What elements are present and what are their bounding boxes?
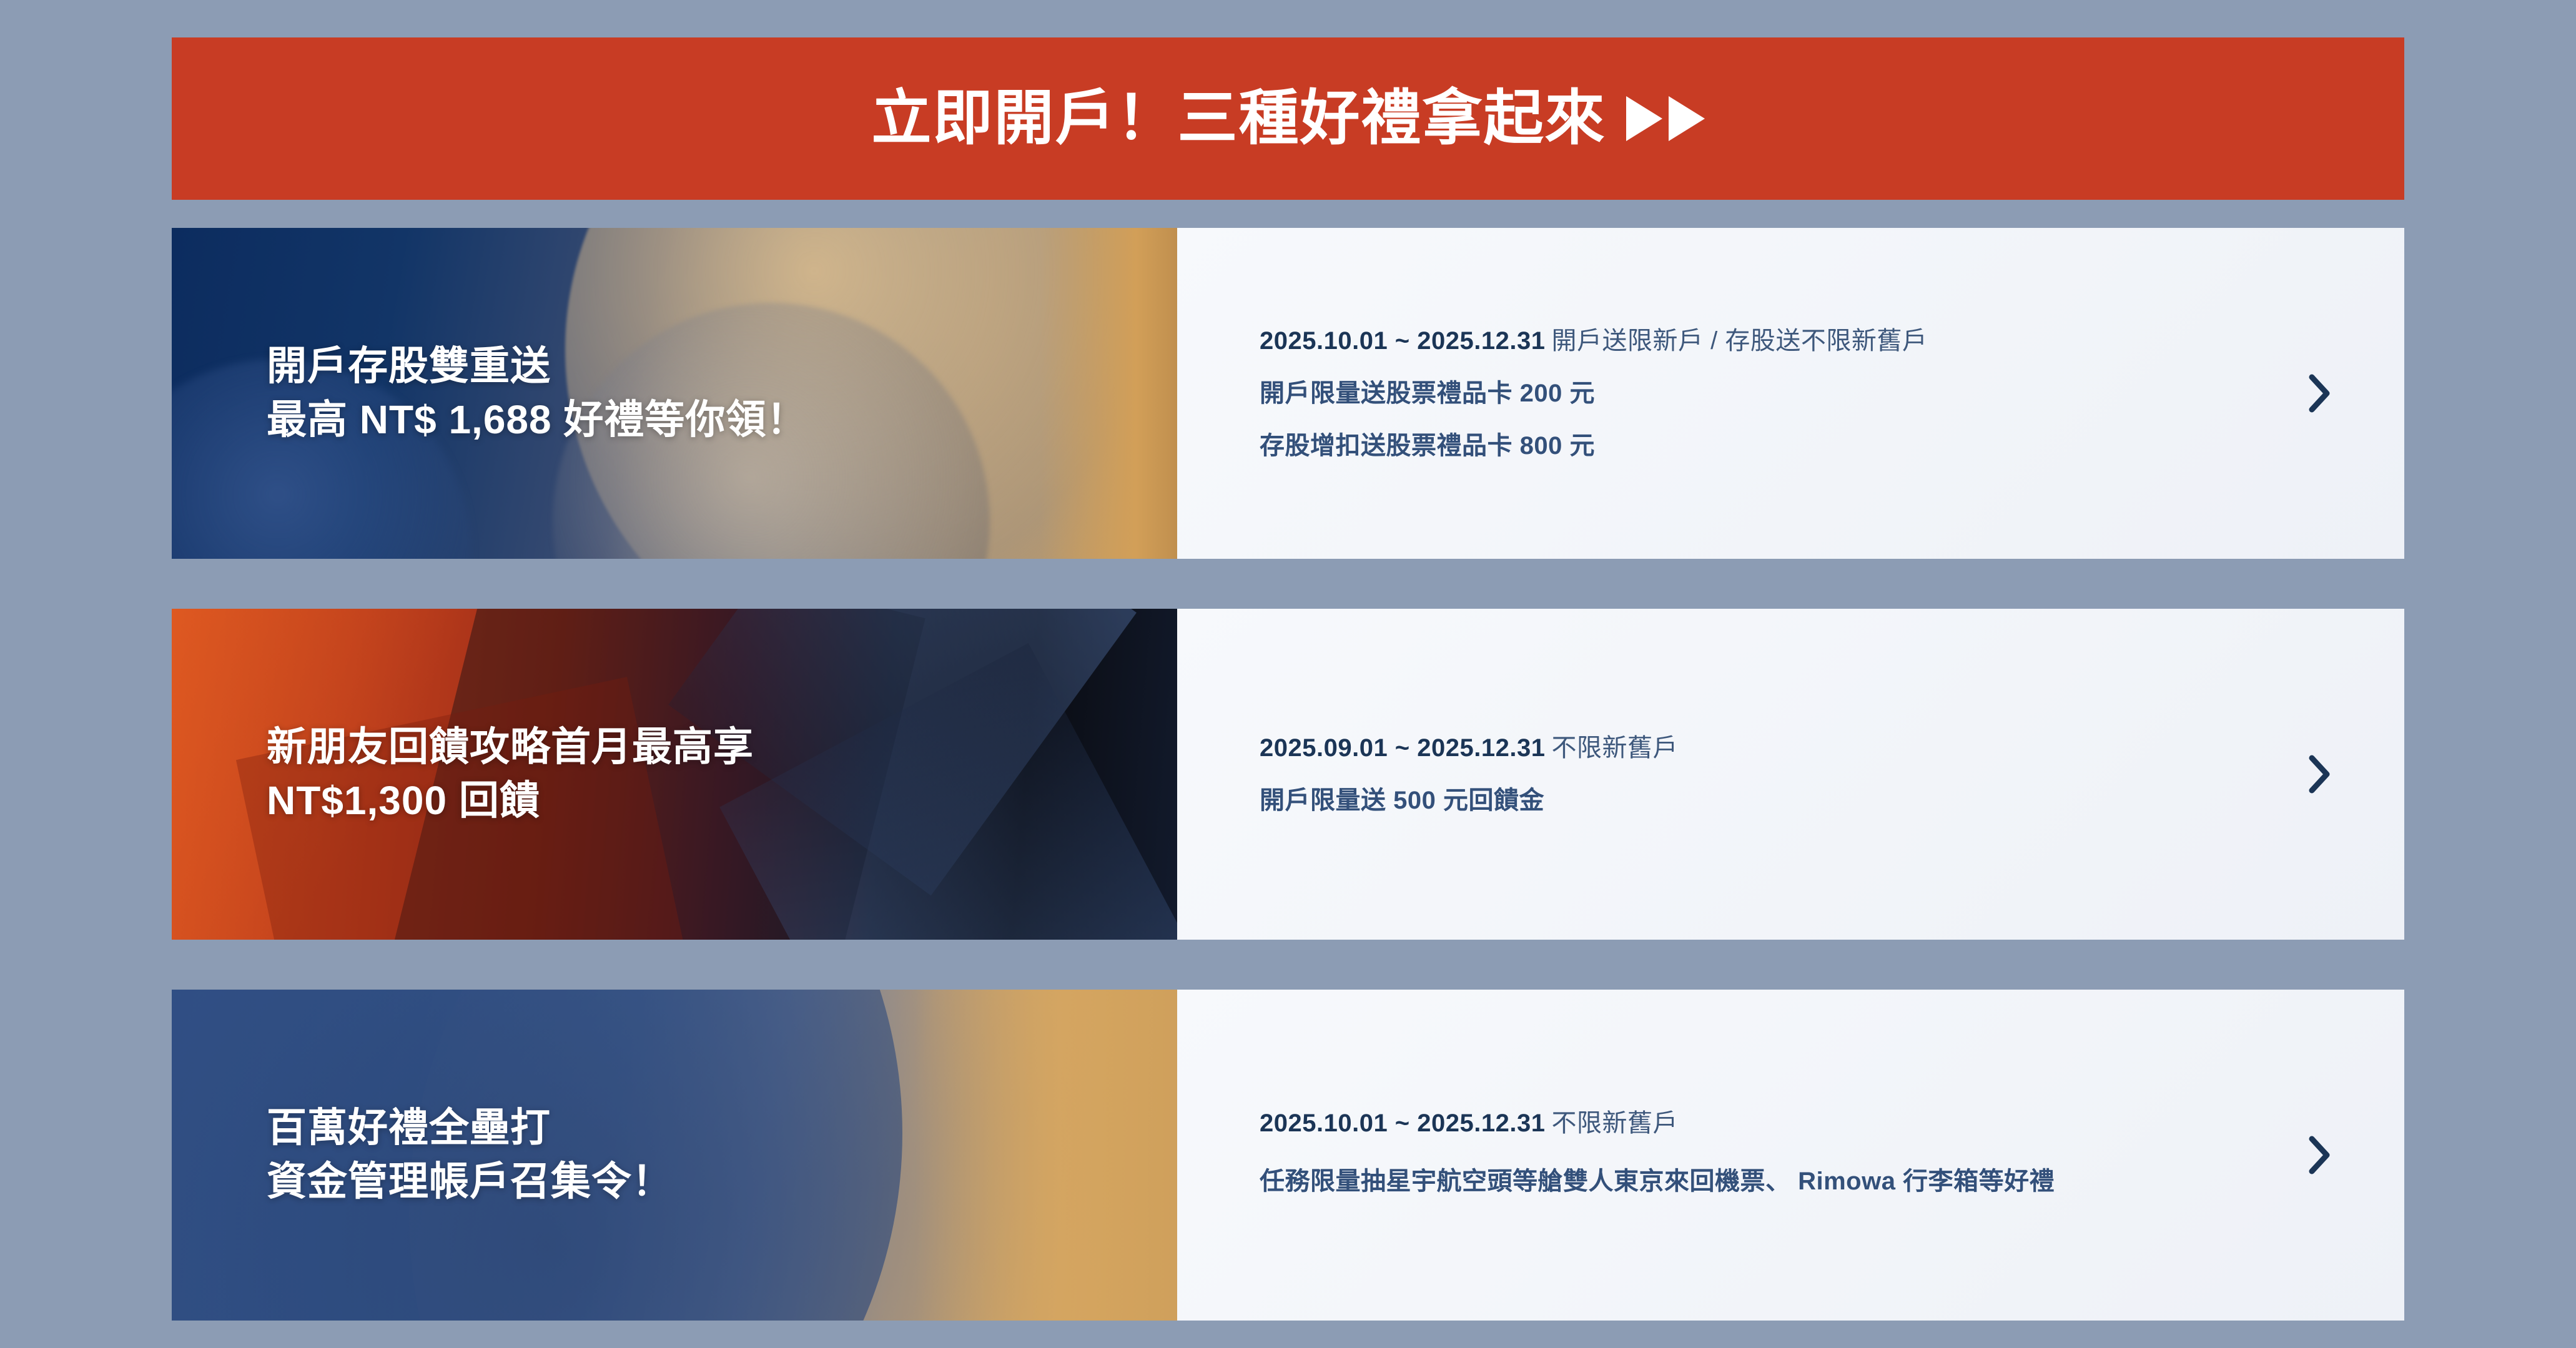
- offer-card-eligibility: 不限新舊戶: [1551, 734, 1678, 762]
- offer-card-visual: 百萬好禮全壘打 資金管理帳戶召集令！: [172, 990, 1177, 1321]
- offer-card-title: 百萬好禮全壘打 資金管理帳戶召集令！: [267, 1101, 673, 1209]
- offer-card[interactable]: 新朋友回饋攻略首月最高享 NT$1,300 回饋 2025.09.01 ~ 20…: [172, 609, 2404, 940]
- offer-card-benefit-1: 開戶限量送 500 元回饋金: [1260, 788, 2254, 813]
- offer-card-title-line2: 資金管理帳戶召集令！: [267, 1155, 673, 1209]
- decorative-gold-edge: [1040, 228, 1177, 559]
- offer-card-visual: 新朋友回饋攻略首月最高享 NT$1,300 回饋: [172, 609, 1177, 940]
- promo-banner-title-text: 立即開戶！三種好禮拿起來: [872, 89, 1606, 149]
- offer-card-list: 開戶存股雙重送 最高 NT$ 1,688 好禮等你領！ 2025.10.01 ~…: [172, 228, 2404, 1321]
- offer-card-detail: 2025.10.01 ~ 2025.12.31不限新舊戶 任務限量抽星宇航空頭等…: [1177, 990, 2404, 1321]
- offer-card-date-range: 2025.09.01 ~ 2025.12.31: [1260, 734, 1545, 762]
- offer-card-detail: 2025.09.01 ~ 2025.12.31不限新舊戶 開戶限量送 500 元…: [1177, 609, 2404, 940]
- offer-card-period-row: 2025.10.01 ~ 2025.12.31不限新舊戶: [1260, 1111, 2254, 1136]
- offer-card-date-range: 2025.10.01 ~ 2025.12.31: [1260, 1109, 1545, 1137]
- offer-card-period-row: 2025.10.01 ~ 2025.12.31開戶送限新戶 / 存股送不限新舊戶: [1260, 328, 2254, 353]
- triangle-right-icon-1: [1626, 96, 1662, 141]
- offer-card-date-range: 2025.10.01 ~ 2025.12.31: [1260, 327, 1545, 355]
- offer-card-eligibility: 開戶送限新戶 / 存股送不限新舊戶: [1551, 327, 1927, 355]
- triangle-right-icon-2: [1669, 96, 1705, 141]
- offer-card-chevron-right-icon[interactable]: [2302, 1133, 2337, 1178]
- offer-card-title-line2: NT$1,300 回饋: [267, 774, 754, 828]
- offer-card-title-line1: 開戶存股雙重送: [267, 340, 807, 393]
- offer-card[interactable]: 開戶存股雙重送 最高 NT$ 1,688 好禮等你領！ 2025.10.01 ~…: [172, 228, 2404, 559]
- offer-card[interactable]: 百萬好禮全壘打 資金管理帳戶召集令！ 2025.10.01 ~ 2025.12.…: [172, 990, 2404, 1321]
- decorative-gold-edge: [915, 990, 1177, 1321]
- offer-card-title-block: 開戶存股雙重送 最高 NT$ 1,688 好禮等你領！: [172, 340, 832, 447]
- offer-card-title-line2: 最高 NT$ 1,688 好禮等你領！: [267, 393, 807, 447]
- offer-card-chevron-right-icon[interactable]: [2302, 752, 2337, 797]
- promo-page: 立即開戶！三種好禮拿起來 開戶存股雙重送 最高 NT$ 1,688 好禮等你領！: [0, 0, 2576, 1348]
- double-play-arrow-icon: [1626, 96, 1705, 141]
- offer-card-title-line1: 百萬好禮全壘打: [267, 1101, 673, 1155]
- offer-card-title-line1: 新朋友回饋攻略首月最高享: [267, 721, 754, 774]
- offer-card-title-block: 百萬好禮全壘打 資金管理帳戶召集令！: [172, 1101, 698, 1209]
- offer-card-detail: 2025.10.01 ~ 2025.12.31開戶送限新戶 / 存股送不限新舊戶…: [1177, 228, 2404, 559]
- offer-card-period-row: 2025.09.01 ~ 2025.12.31不限新舊戶: [1260, 735, 2254, 760]
- offer-card-benefit-1: 開戶限量送股票禮品卡 200 元: [1260, 381, 2254, 406]
- offer-card-benefit-1: 任務限量抽星宇航空頭等艙雙人東京來回機票、 Rimowa 行李箱等好禮: [1260, 1163, 2254, 1199]
- offer-card-visual: 開戶存股雙重送 最高 NT$ 1,688 好禮等你領！: [172, 228, 1177, 559]
- offer-card-title-block: 新朋友回饋攻略首月最高享 NT$1,300 回饋: [172, 721, 779, 828]
- offer-card-benefit-2: 存股增扣送股票禮品卡 800 元: [1260, 433, 2254, 458]
- offer-card-chevron-right-icon[interactable]: [2302, 371, 2337, 416]
- promo-banner[interactable]: 立即開戶！三種好禮拿起來: [172, 37, 2404, 200]
- offer-card-eligibility: 不限新舊戶: [1551, 1109, 1678, 1137]
- offer-card-title: 新朋友回饋攻略首月最高享 NT$1,300 回饋: [267, 721, 754, 828]
- offer-card-title: 開戶存股雙重送 最高 NT$ 1,688 好禮等你領！: [267, 340, 807, 447]
- promo-banner-title: 立即開戶！三種好禮拿起來: [872, 89, 1705, 149]
